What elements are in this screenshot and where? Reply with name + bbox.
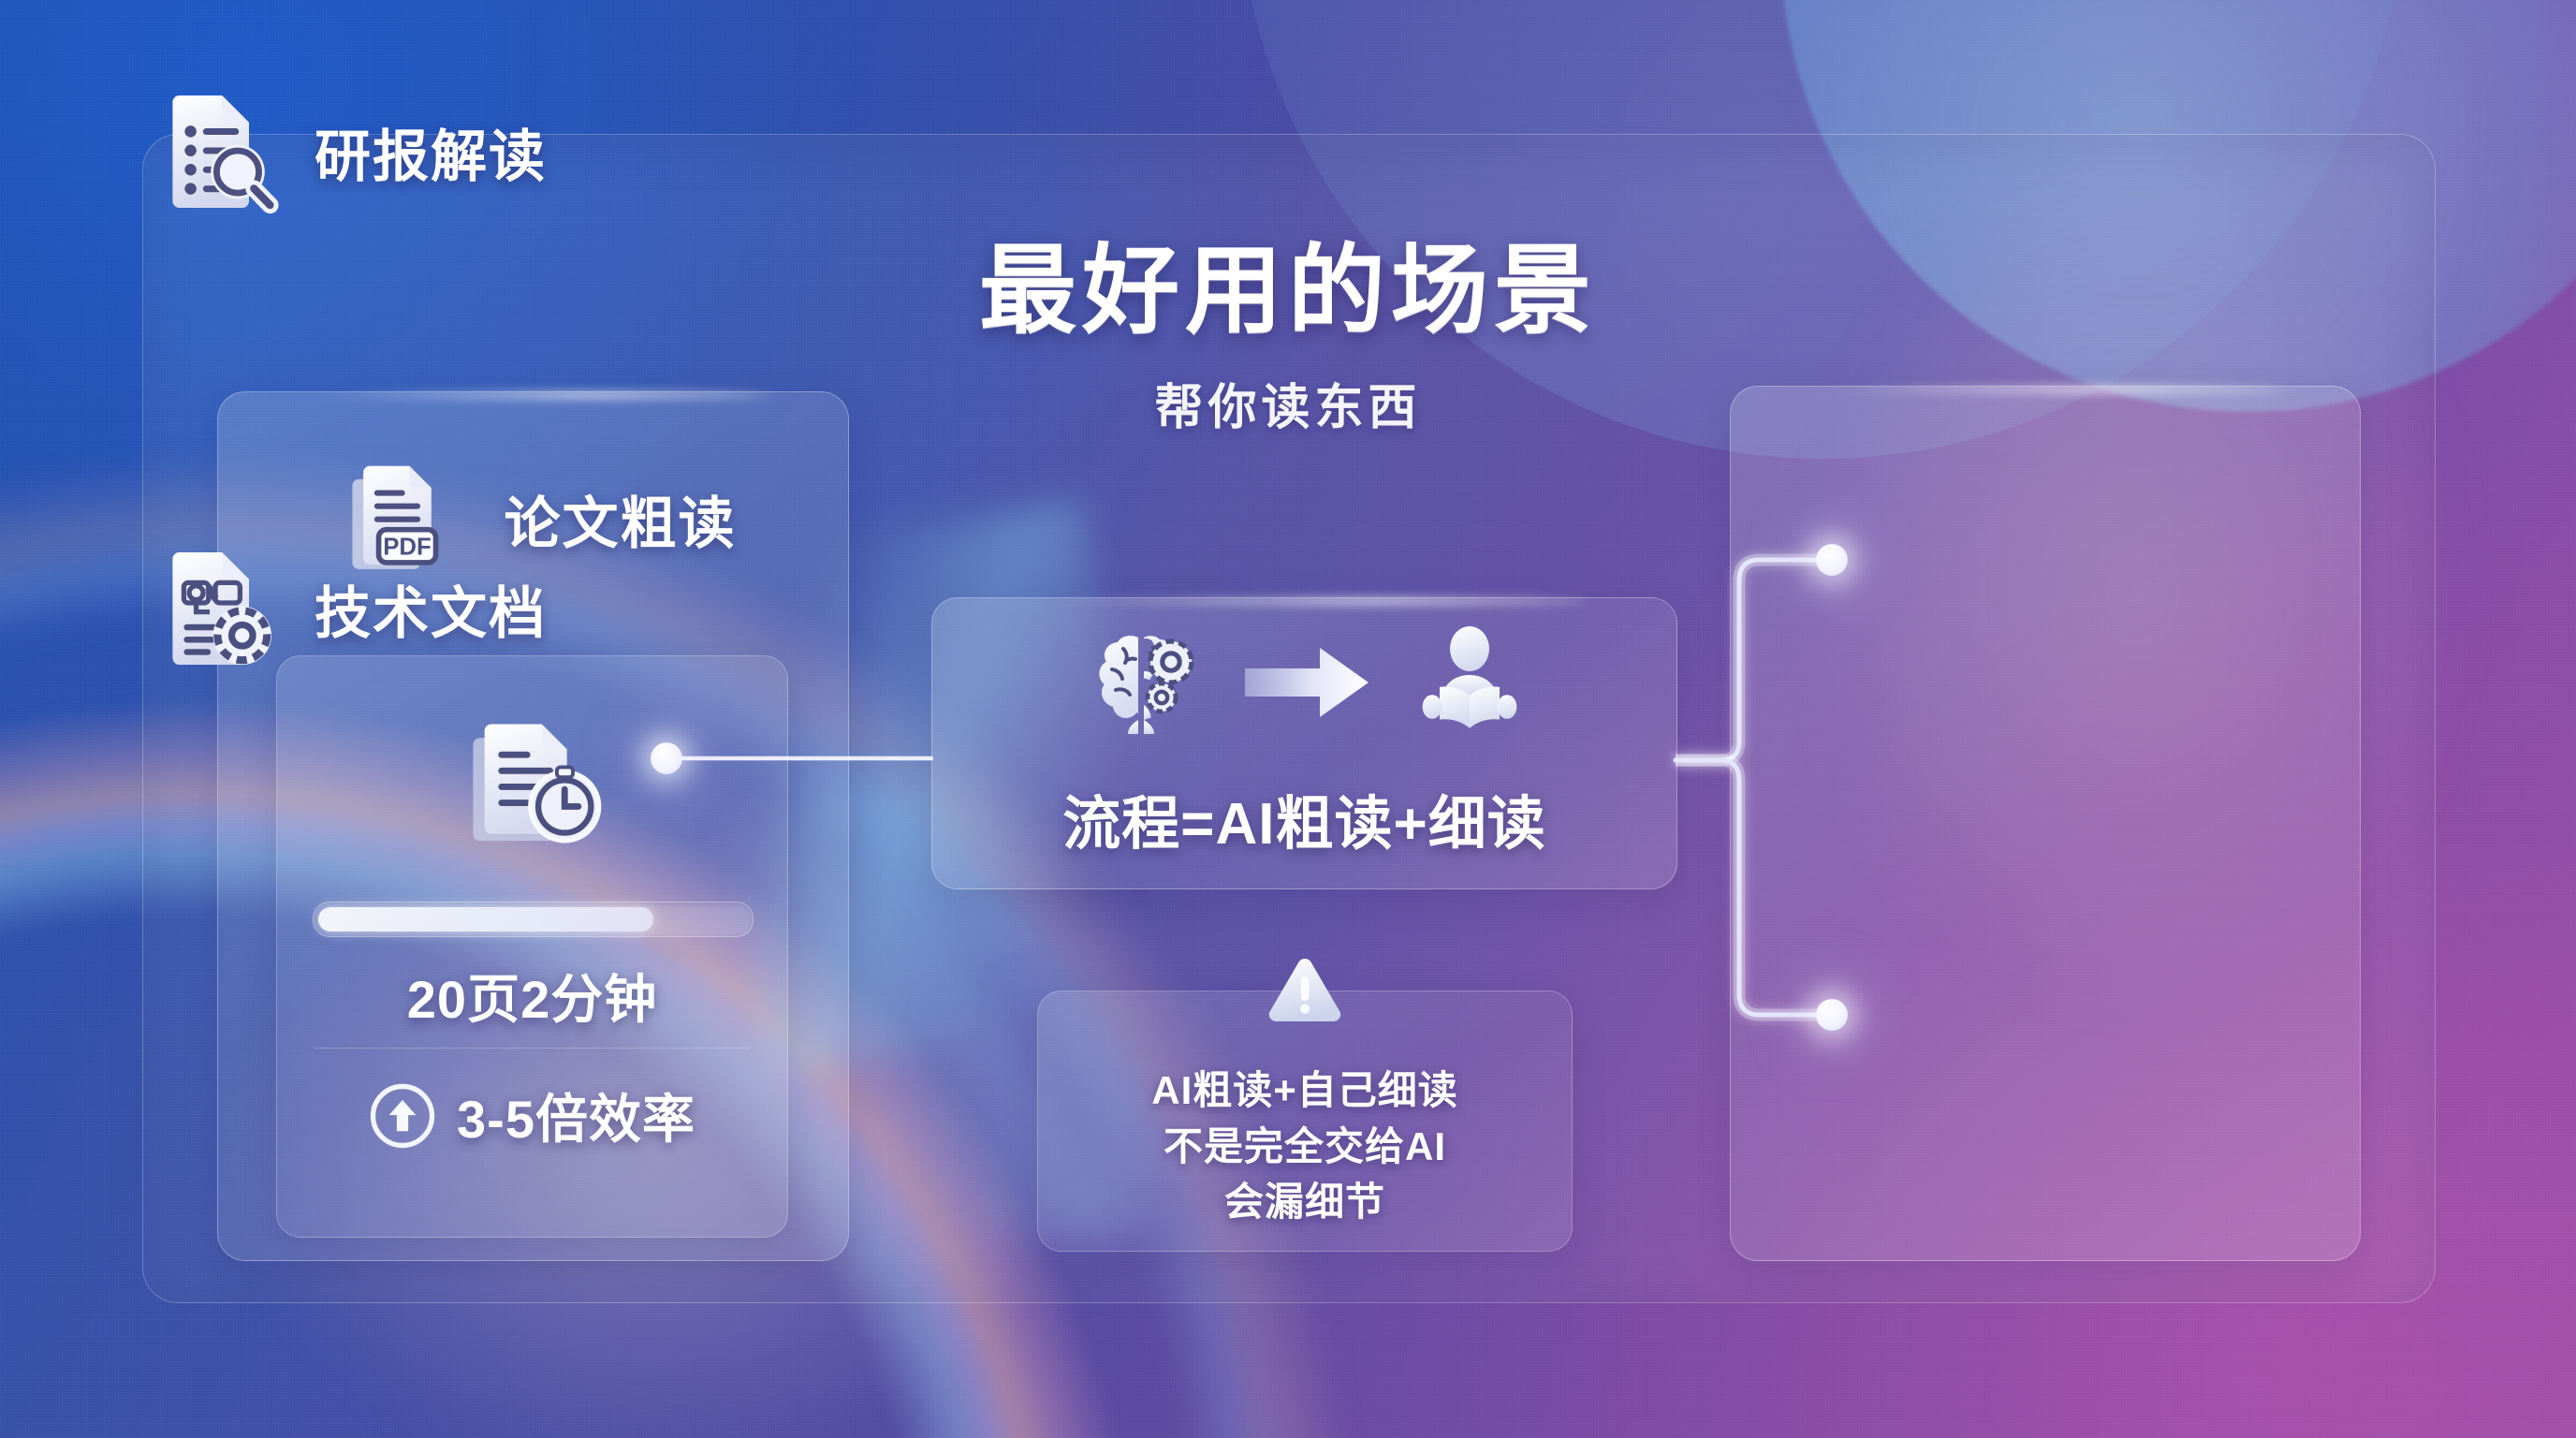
right-panel-card[interactable]: [1730, 386, 2361, 1261]
left-panel-stats-card[interactable]: 20页2分钟 3-5倍效率: [276, 655, 788, 1238]
document-stopwatch-icon: [277, 701, 787, 866]
warning-card[interactable]: AI粗读+自己细读 不是完全交给AI 会漏细节: [1037, 990, 1573, 1252]
tech-doc-label: 技术文档: [315, 568, 547, 650]
warning-line: 不是完全交给AI: [1038, 1119, 1572, 1175]
warning-triangle-icon: [1038, 952, 1572, 1027]
warning-line: 会漏细节: [1038, 1174, 1572, 1230]
connector-node-report: [1816, 544, 1848, 576]
progress-bar-fill: [318, 907, 653, 932]
research-report-item[interactable]: 研报解读: [148, 84, 547, 219]
efficiency-label: 3-5倍效率: [457, 1078, 695, 1153]
center-process-card[interactable]: 流程=AI粗读+细读: [931, 597, 1677, 889]
process-formula-label: 流程=AI粗读+细读: [932, 776, 1676, 860]
connector-node-techdoc: [1816, 999, 1848, 1031]
arrow-up-circle-icon: [369, 1082, 436, 1150]
warning-text-block: AI粗读+自己细读 不是完全交给AI 会漏细节: [1038, 1063, 1572, 1230]
research-report-label: 研报解读: [315, 111, 547, 193]
person-reading-icon: [1412, 624, 1528, 741]
card-edge-glow: [1807, 383, 2285, 396]
brain-gear-icon: [1082, 623, 1202, 742]
page-title: 最好用的场景: [0, 239, 2576, 344]
document-gear-icon: [148, 541, 283, 676]
arrow-right-icon: [1241, 642, 1372, 723]
document-search-icon: [148, 84, 283, 219]
stats-divider: [315, 1048, 750, 1049]
infographic-stage: 最好用的场景 帮你读东西: [0, 0, 2576, 1438]
process-icons-row: [932, 623, 1676, 742]
tech-doc-item[interactable]: 技术文档: [148, 541, 547, 676]
card-edge-glow: [294, 389, 772, 402]
warning-line: AI粗读+自己细读: [1038, 1063, 1572, 1119]
connector-node-left: [651, 742, 682, 774]
pages-per-minute-stat: 20页2分钟: [277, 958, 787, 1034]
progress-bar[interactable]: [313, 902, 754, 937]
card-edge-glow: [1021, 594, 1587, 608]
efficiency-row: 3-5倍效率: [277, 1078, 787, 1153]
